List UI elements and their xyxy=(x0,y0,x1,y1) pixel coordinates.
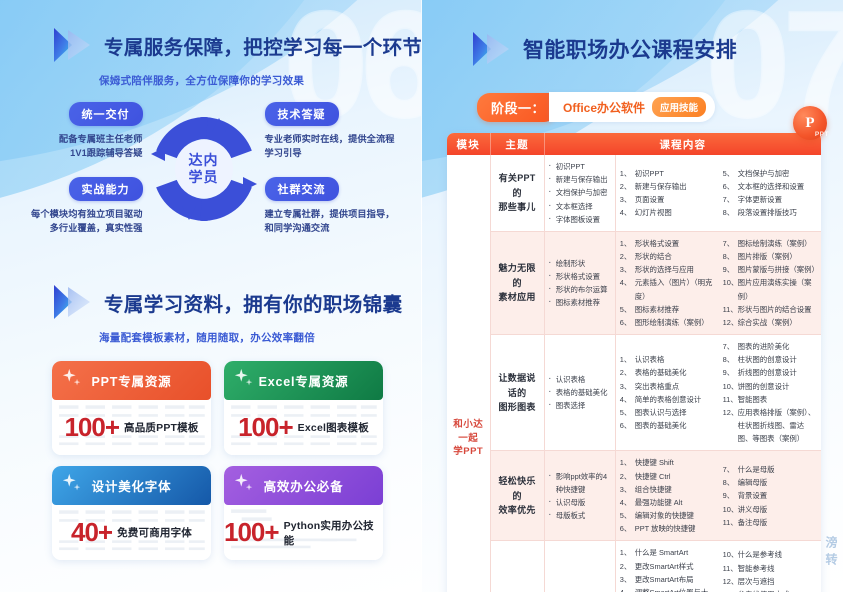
content-list-right: 什么是母版 编辑母版 背景设置 讲义母版 备注母版 xyxy=(718,451,821,541)
card-header: PPT专属资源 xyxy=(52,361,211,400)
section-title: 专属学习资料，拥有你的职场锦囊 xyxy=(104,288,403,317)
list-item: 文档保护与加密 xyxy=(723,167,817,180)
ppt-icon-label: PPT xyxy=(815,131,829,138)
content-list-left: 认识表格 表格的基础美化 突出表格重点 简单的表格创意设计 图表认识与选择 图表… xyxy=(615,335,718,451)
list-item: 层次与遮挡 xyxy=(723,575,817,588)
table-row: 魅力无限的 素材应用 绘制形状 形状格式设置 形状的布尔运算 图标素材推荐 xyxy=(447,231,821,334)
feature-pill-label: 技术答疑 xyxy=(265,102,339,126)
course-schedule-table-wrapper: 模块 主题 课程内容 和小达一起 学PPT 有关PPT的 那些事儿 初识PPT … xyxy=(447,133,821,592)
list-item: 新建与保存输出 xyxy=(620,180,714,193)
section-subtitle: 海量配套模板素材，随用随取，办公效率翻倍 xyxy=(99,330,421,345)
list-item: 图形绘制演练（案例） xyxy=(620,316,714,329)
list-item: 图表认识与选择 xyxy=(620,406,714,419)
sparkle-icon xyxy=(233,367,255,389)
feature-technical-support: 技术答疑 专业老师实时在线，提供全流程 学习引导 xyxy=(265,102,411,161)
panel-divider xyxy=(421,0,422,592)
list-item: 更改SmartArt样式 xyxy=(620,560,714,573)
content-list-right: 什么是参考线 智能参考线 层次与遮挡 参考线使用方式 辅助对齐菜单 创意文字排版… xyxy=(718,541,821,592)
feature-description: 专业老师实时在线，提供全流程 学习引导 xyxy=(265,132,411,161)
list-item: 更改SmartArt布局 xyxy=(620,573,714,586)
table-row: 和小达一起 学PPT 有关PPT的 那些事儿 初识PPT 新建与保存输出 文档保… xyxy=(447,155,821,231)
list-item: 应用表格排版（案例）、柱状图折线图、雷达图、等图表（案例） xyxy=(723,406,817,446)
list-item: 认识母版 xyxy=(549,496,611,509)
list-item: 图片蒙版与拼接（案例） xyxy=(723,263,817,276)
list-item: 元素插入（图片）（明克度） xyxy=(620,276,714,302)
list-item: 图片排版（案例） xyxy=(723,250,817,263)
list-item: 页面设置 xyxy=(620,193,714,206)
list-item: 讲义母版 xyxy=(723,503,817,516)
list-item: 初识PPT xyxy=(549,160,611,173)
feature-pill-label: 统一交付 xyxy=(69,102,143,126)
list-item: 初识PPT xyxy=(620,167,714,180)
course-landing-page: 06 专属服务保障，把控学习每一个环节 保姆式陪伴服务，全方位保障你的学习效果 xyxy=(0,0,843,592)
numbered-list: 文档保护与加密 文本框的选择和设置 字体更新设置 段落设置排版技巧 xyxy=(723,167,817,220)
list-item: 认识表格 xyxy=(620,353,714,366)
list-item: 突出表格重点 xyxy=(620,380,714,393)
column-header-content: 课程内容 xyxy=(544,133,821,155)
list-item: 字体图板设置 xyxy=(549,213,611,226)
content-list-left: 什么是 SmartArt 更改SmartArt样式 更改SmartArt布局 调… xyxy=(615,541,718,592)
topic-cell: 魅力无限的 素材应用 xyxy=(490,231,544,334)
topic-cell: 轻松快乐的 效率优先 xyxy=(490,451,544,541)
numbered-list: 初识PPT 新建与保存输出 页面设置 幻灯片视图 xyxy=(620,167,714,220)
list-item: 新建与保存输出 xyxy=(549,173,611,186)
list-item: 什么是母版 xyxy=(723,463,817,476)
list-item: 绘制形状 xyxy=(549,257,611,270)
card-caption: 高品质PPT模板 xyxy=(124,420,199,435)
resource-card-ppt[interactable]: PPT专属资源 xyxy=(52,361,211,455)
features-right-column: 技术答疑 专业老师实时在线，提供全流程 学习引导 社群交流 建立专属社群，提供项… xyxy=(265,102,411,235)
card-body: 100+ 高品质PPT模板 xyxy=(52,400,211,455)
list-item: 表格的基础美化 xyxy=(549,386,611,399)
card-caption: Excel图表模板 xyxy=(298,420,369,435)
sparkle-icon xyxy=(61,367,83,389)
list-item: 图表的基础美化 xyxy=(620,419,714,432)
list-item: 备注母版 xyxy=(723,516,817,529)
column-header-topic: 主题 xyxy=(490,133,544,155)
resource-card-fonts[interactable]: 设计美化字体 xyxy=(52,466,211,560)
list-item: 图标素材推荐 xyxy=(549,296,611,309)
numbered-list: 图表的进阶美化 柱状图的创意设计 折线图的创意设计 饼图的创意设计 智能图表 应… xyxy=(723,340,817,445)
list-item: 什么是参考线 xyxy=(723,548,817,561)
section-title: 智能职场办公课程安排 xyxy=(523,34,737,64)
topic-bullets-cell: 认识表格 表格的基础美化 图表选择 xyxy=(544,335,615,451)
card-caption: 免费可商用字体 xyxy=(117,525,192,540)
numbered-list: 图标绘制演练（案例） 图片排版（案例） 图片蒙版与拼接（案例） 图片应用演练实操… xyxy=(723,237,817,329)
stage-number-badge: 阶段一： xyxy=(477,93,557,122)
column-header-module: 模块 xyxy=(447,133,490,155)
numbered-list: 什么是参考线 智能参考线 层次与遮挡 参考线使用方式 辅助对齐菜单 创意文字排版… xyxy=(723,548,817,592)
stage-detail-pill: Office办公软件 应用技能 xyxy=(549,92,715,122)
bullet-list: 影响ppt效率的4种快捷键 认识母版 母版板式 xyxy=(549,470,611,523)
section-heading-service: 专属服务保障，把控学习每一个环节 xyxy=(48,24,421,66)
list-item: 文本框选择 xyxy=(549,200,611,213)
play-triangle-icon xyxy=(48,281,94,323)
numbered-list: 什么是 SmartArt 更改SmartArt样式 更改SmartArt布局 调… xyxy=(620,546,714,592)
stage-name: Office办公软件 xyxy=(563,99,645,116)
card-count: 100+ xyxy=(238,412,293,443)
list-item: 字体更新设置 xyxy=(723,193,817,206)
list-item: 图标素材推荐 xyxy=(620,303,714,316)
numbered-list: 什么是母版 编辑母版 背景设置 讲义母版 备注母版 xyxy=(723,463,817,529)
content-list-right: 图标绘制演练（案例） 图片排版（案例） 图片蒙版与拼接（案例） 图片应用演练实操… xyxy=(718,231,821,334)
topic-cell: 演示而生的 一切皆可能 xyxy=(490,541,544,592)
list-item: 图标绘制演练（案例） xyxy=(723,237,817,250)
list-item: 形状格式设置 xyxy=(549,270,611,283)
topic-cell: 有关PPT的 那些事儿 xyxy=(490,155,544,231)
bullet-list: 认识表格 表格的基础美化 图表选择 xyxy=(549,373,611,413)
stage-skill-tag: 应用技能 xyxy=(652,97,706,117)
content-list-right: 文档保护与加密 文本框的选择和设置 字体更新设置 段落设置排版技巧 xyxy=(718,155,821,231)
topic-cell: 让数据说话的 图形图表 xyxy=(490,335,544,451)
list-item: 简单的表格创意设计 xyxy=(620,393,714,406)
list-item: 形状的布尔运算 xyxy=(549,283,611,296)
ppt-file-icon: P PPT xyxy=(793,106,827,140)
list-item: 编辑对象的快捷键 xyxy=(620,509,714,522)
list-item: 母版板式 xyxy=(549,509,611,522)
list-item: 折线图的创意设计 xyxy=(723,366,817,379)
list-item: 文档保护与加密 xyxy=(549,186,611,199)
card-count: 40+ xyxy=(71,517,112,548)
circle-center-line2: 学员 xyxy=(189,169,219,185)
content-list-right: 图表的进阶美化 柱状图的创意设计 折线图的创意设计 饼图的创意设计 智能图表 应… xyxy=(718,335,821,451)
card-title: 设计美化字体 xyxy=(92,476,172,495)
list-item: 综合实战（案例） xyxy=(723,316,817,329)
play-triangle-icon xyxy=(467,28,513,70)
module-cell-label: 和小达一起 学PPT xyxy=(447,155,490,592)
play-triangle-icon xyxy=(48,24,94,66)
sparkle-icon xyxy=(233,472,255,494)
numbered-list: 形状格式设置 形状的结合 形状的选择与应用 元素插入（图片）（明克度） 图标素材… xyxy=(620,237,714,329)
feature-pill-label: 社群交流 xyxy=(265,177,339,201)
list-item: 文本框的选择和设置 xyxy=(723,180,817,193)
list-item: 智能参考线 xyxy=(723,562,817,575)
table-body: 和小达一起 学PPT 有关PPT的 那些事儿 初识PPT 新建与保存输出 文档保… xyxy=(447,155,821,592)
list-item: 认识表格 xyxy=(549,373,611,386)
left-panel: 06 专属服务保障，把控学习每一个环节 保姆式陪伴服务，全方位保障你的学习效果 xyxy=(0,0,421,592)
list-item: 组合快捷键 xyxy=(620,483,714,496)
sparkle-icon xyxy=(61,472,83,494)
numbered-list: 认识表格 表格的基础美化 突出表格重点 简单的表格创意设计 图表认识与选择 图表… xyxy=(620,353,714,432)
section-heading-resources: 专属学习资料，拥有你的职场锦囊 xyxy=(48,281,421,323)
card-header: Excel专属资源 xyxy=(224,361,383,400)
course-schedule-table: 模块 主题 课程内容 和小达一起 学PPT 有关PPT的 那些事儿 初识PPT … xyxy=(447,133,821,592)
feature-description: 建立专属社群，提供项目指导， 和同学沟通交流 xyxy=(265,207,411,236)
feature-unified-delivery: 统一交付 配备专属班主任老师 1V1跟踪辅导答疑 xyxy=(11,102,143,161)
list-item: 形状的结合 xyxy=(620,250,714,263)
list-item: 段落设置排版技巧 xyxy=(723,206,817,219)
list-item: PPT 放映的快捷键 xyxy=(620,522,714,535)
ppt-icon-letter: P xyxy=(805,116,814,131)
card-title: 高效办公必备 xyxy=(264,476,344,495)
card-count: 100+ xyxy=(224,517,279,548)
resource-cards-grid: PPT专属资源 xyxy=(52,361,383,560)
resource-card-python[interactable]: 高效办公必备 100+ Python实用办公技能 xyxy=(224,466,383,560)
list-item: 柱状图的创意设计 xyxy=(723,353,817,366)
list-item: 形状与图片的结合设置 xyxy=(723,303,817,316)
features-left-column: 统一交付 配备专属班主任老师 1V1跟踪辅导答疑 实战能力 每个模块均有独立项目… xyxy=(11,102,143,235)
table-header: 模块 主题 课程内容 xyxy=(447,133,821,155)
list-item: 编辑母版 xyxy=(723,476,817,489)
stage-badge-row: 阶段一： Office办公软件 应用技能 xyxy=(477,92,843,122)
list-item: 图表的进阶美化 xyxy=(723,340,817,353)
list-item: 表格的基础美化 xyxy=(620,366,714,379)
topic-bullets-cell: 认识SmartArt 更改SmartArt样式 层次与路径 创意排版 xyxy=(544,541,615,592)
list-item: 智能图表 xyxy=(723,393,817,406)
circle-center-label: 达内 学员 xyxy=(149,114,259,224)
list-item: 形状格式设置 xyxy=(620,237,714,250)
service-diagram: 统一交付 配备专属班主任老师 1V1跟踪辅导答疑 实战能力 每个模块均有独立项目… xyxy=(0,102,421,235)
table-header-row: 模块 主题 课程内容 xyxy=(447,133,821,155)
bullet-list: 绘制形状 形状格式设置 形状的布尔运算 图标素材推荐 xyxy=(549,257,611,310)
table-row: 轻松快乐的 效率优先 影响ppt效率的4种快捷键 认识母版 母版板式 快捷键 S… xyxy=(447,451,821,541)
feature-community: 社群交流 建立专属社群，提供项目指导， 和同学沟通交流 xyxy=(265,177,411,236)
list-item: 饼图的创意设计 xyxy=(723,380,817,393)
list-item: 图片应用演练实操（案例） xyxy=(723,276,817,302)
feature-description: 每个模块均有独立项目驱动 多行业覆盖，真实性强 xyxy=(11,207,143,236)
card-title: PPT专属资源 xyxy=(92,371,172,390)
topic-bullets-cell: 初识PPT 新建与保存输出 文档保护与加密 文本框选择 字体图板设置 xyxy=(544,155,615,231)
right-panel: 07 智能职场办公课程安排 阶段一： Office办公软件 应用技能 P PPT xyxy=(421,0,843,592)
card-header: 设计美化字体 xyxy=(52,466,211,505)
card-body: 100+ Python实用办公技能 xyxy=(224,505,383,560)
feature-practical-ability: 实战能力 每个模块均有独立项目驱动 多行业覆盖，真实性强 xyxy=(11,177,143,236)
list-item: 背景设置 xyxy=(723,489,817,502)
feature-pill-label: 实战能力 xyxy=(69,177,143,201)
list-item: 影响ppt效率的4种快捷键 xyxy=(549,470,611,496)
circle-center-line1: 达内 xyxy=(189,152,219,168)
list-item: 幻灯片视图 xyxy=(620,206,714,219)
student-circle-diagram: 达内 学员 xyxy=(149,114,259,224)
list-item: 形状的选择与应用 xyxy=(620,263,714,276)
section-heading-schedule: 智能职场办公课程安排 xyxy=(467,28,843,70)
list-item: 参考线使用方式 xyxy=(723,588,817,592)
table-row: 让数据说话的 图形图表 认识表格 表格的基础美化 图表选择 认识表格 表 xyxy=(447,335,821,451)
list-item: 快捷键 Shift xyxy=(620,456,714,469)
list-item: 什么是 SmartArt xyxy=(620,546,714,559)
card-caption: Python实用办公技能 xyxy=(284,518,383,548)
section-subtitle: 保姆式陪伴服务，全方位保障你的学习效果 xyxy=(99,73,421,88)
card-body: 100+ Excel图表模板 xyxy=(224,400,383,455)
feature-description: 配备专属班主任老师 1V1跟踪辅导答疑 xyxy=(11,132,143,161)
list-item: 最强功能键 Alt xyxy=(620,496,714,509)
card-header: 高效办公必备 xyxy=(224,466,383,505)
card-body: 40+ 免费可商用字体 xyxy=(52,505,211,560)
list-item: 调整SmartArt位置与大小 xyxy=(620,586,714,592)
content-list-left: 形状格式设置 形状的结合 形状的选择与应用 元素插入（图片）（明克度） 图标素材… xyxy=(615,231,718,334)
edge-vertical-text: 滂转 xyxy=(823,536,840,570)
list-item: 图表选择 xyxy=(549,399,611,412)
list-item: 快捷键 Ctrl xyxy=(620,470,714,483)
topic-bullets-cell: 绘制形状 形状格式设置 形状的布尔运算 图标素材推荐 xyxy=(544,231,615,334)
table-row: 演示而生的 一切皆可能 认识SmartArt 更改SmartArt样式 层次与路… xyxy=(447,541,821,592)
section-title: 专属服务保障，把控学习每一个环节 xyxy=(104,31,421,60)
topic-bullets-cell: 影响ppt效率的4种快捷键 认识母版 母版板式 xyxy=(544,451,615,541)
card-title: Excel专属资源 xyxy=(259,371,349,390)
numbered-list: 快捷键 Shift 快捷键 Ctrl 组合快捷键 最强功能键 Alt 编辑对象的… xyxy=(620,456,714,535)
content-list-left: 快捷键 Shift 快捷键 Ctrl 组合快捷键 最强功能键 Alt 编辑对象的… xyxy=(615,451,718,541)
resource-card-excel[interactable]: Excel专属资源 xyxy=(224,361,383,455)
content-list-left: 初识PPT 新建与保存输出 页面设置 幻灯片视图 xyxy=(615,155,718,231)
bullet-list: 初识PPT 新建与保存输出 文档保护与加密 文本框选择 字体图板设置 xyxy=(549,160,611,226)
card-count: 100+ xyxy=(64,412,119,443)
